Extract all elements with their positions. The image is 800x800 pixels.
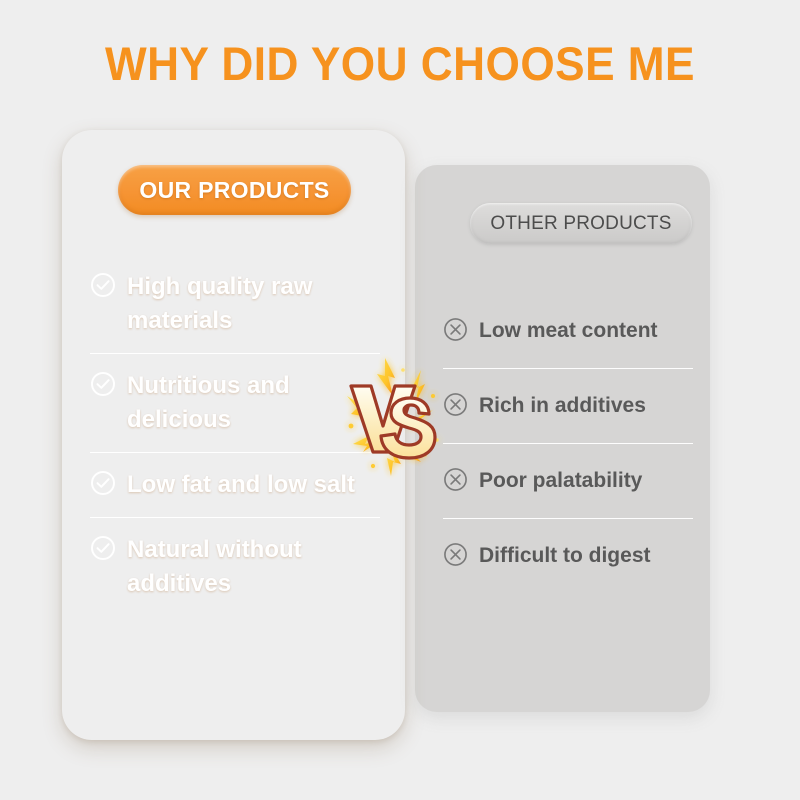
others-list-item: Poor palatability	[443, 465, 693, 497]
ours-list-item-label: High quality raw materials	[127, 270, 380, 338]
others-list-item: Low meat content	[443, 315, 693, 347]
other-products-list: Low meat contentRich in additivesPoor pa…	[443, 315, 693, 572]
others-list-item-label: Low meat content	[479, 315, 658, 346]
others-list-divider	[443, 497, 693, 540]
x-circle-icon	[443, 542, 468, 572]
our-products-header-pill: OUR PRODUCTS	[118, 165, 351, 215]
ours-list-item-label: Low fat and low salt	[127, 468, 355, 502]
others-list-divider	[443, 347, 693, 390]
others-list-item: Rich in additives	[443, 390, 693, 422]
others-list-item: Difficult to digest	[443, 540, 693, 572]
x-circle-icon	[443, 317, 468, 347]
others-list-item-label: Poor palatability	[479, 465, 642, 496]
ours-list-item: Natural without additives	[90, 533, 380, 601]
others-list-item-label: Difficult to digest	[479, 540, 651, 571]
check-circle-icon	[90, 371, 116, 402]
check-circle-icon	[90, 272, 116, 303]
vs-badge	[333, 352, 448, 487]
check-circle-icon	[90, 535, 116, 566]
other-products-header-label: OTHER PRODUCTS	[490, 213, 671, 235]
ours-list-item-label: Natural without additives	[127, 533, 380, 601]
our-products-header-label: OUR PRODUCTS	[139, 177, 329, 204]
check-circle-icon	[90, 470, 116, 501]
ours-list-item: High quality raw materials	[90, 270, 380, 338]
vs-badge-graphic	[333, 352, 448, 487]
ours-list-divider	[90, 502, 380, 533]
other-products-panel: OTHER PRODUCTS Low meat contentRich in a…	[415, 165, 710, 712]
page-title: WHY DID YOU CHOOSE ME	[24, 36, 776, 91]
other-products-header-pill: OTHER PRODUCTS	[470, 203, 692, 244]
others-list-divider	[443, 422, 693, 465]
others-list-item-label: Rich in additives	[479, 390, 646, 421]
